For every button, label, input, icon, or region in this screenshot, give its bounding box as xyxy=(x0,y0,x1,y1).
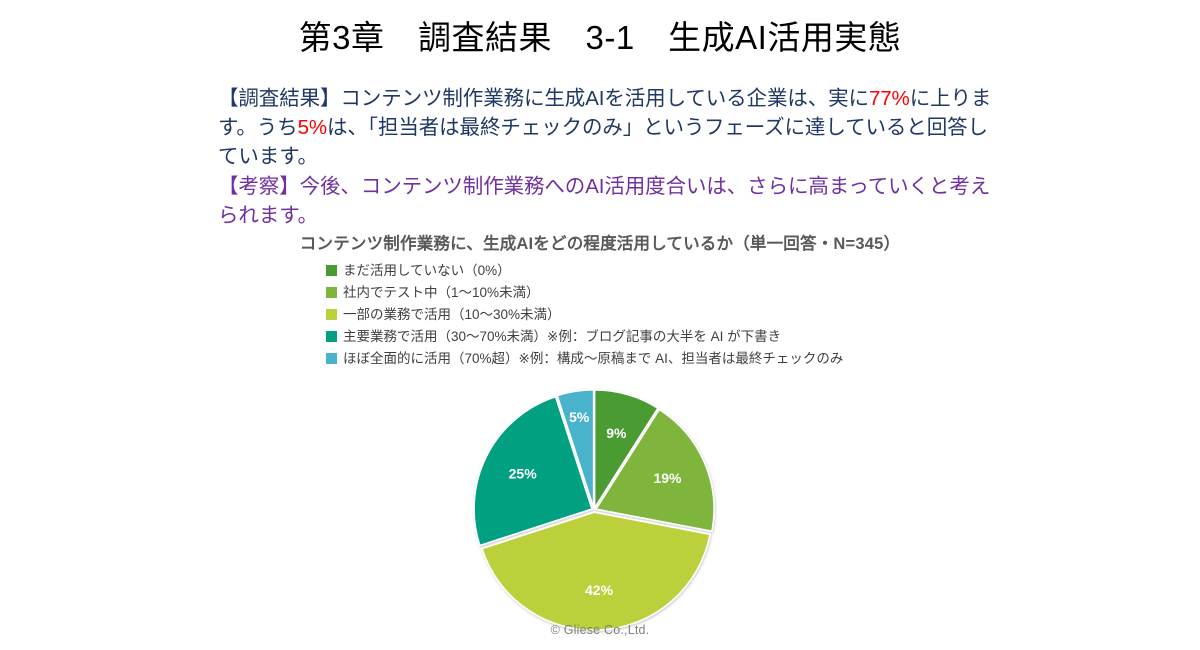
pie-slice-label-2: 42% xyxy=(585,582,614,598)
result-text-prefix: 【調査結果】コンテンツ制作業務に生成AIを活用している企業は、実に xyxy=(218,87,869,110)
legend-swatch-icon-0 xyxy=(326,265,337,276)
legend-swatch-icon-1 xyxy=(326,287,337,298)
chart-title: コンテンツ制作業務に、生成AIをどの程度活用しているか（単一回答・N=345） xyxy=(0,230,1200,254)
legend-item-0: まだ活用していない（0%） xyxy=(326,261,843,280)
legend-label-3: 主要業務で活用（30〜70%未満）※例：ブログ記事の大半を AI が下書き xyxy=(343,327,781,346)
page-title: 第3章 調査結果 3-1 生成AI活用実態 xyxy=(0,18,1200,58)
legend-item-1: 社内でテスト中（1〜10%未満） xyxy=(326,283,843,302)
result-highlight-77: 77% xyxy=(869,87,910,110)
legend-swatch-icon-3 xyxy=(326,331,337,342)
pie-slice-label-0: 9% xyxy=(606,425,627,441)
legend-swatch-icon-4 xyxy=(326,353,337,364)
pie-slice-label-1: 19% xyxy=(653,470,682,486)
result-text-suffix: は、「担当者は最終チェックのみ」というフェーズに達していると回答しています。 xyxy=(218,116,988,168)
legend-label-0: まだ活用していない（0%） xyxy=(343,261,511,280)
insight-text: 【考察】今後、コンテンツ制作業務へのAI活用度合いは、さらに高まっていくと考えら… xyxy=(218,175,990,227)
pie-slice-label-3: 25% xyxy=(509,466,538,482)
legend-item-4: ほぼ全面的に活用（70%超）※例：構成〜原稿まで AI、担当者は最終チェックのみ xyxy=(326,349,843,368)
insight-paragraph: 【考察】今後、コンテンツ制作業務へのAI活用度合いは、さらに高まっていくと考えら… xyxy=(218,172,1000,230)
chart-legend: まだ活用していない（0%） 社内でテスト中（1〜10%未満） 一部の業務で活用（… xyxy=(326,261,843,368)
pie-chart-svg: 9%19%42%25%5% xyxy=(452,385,738,635)
legend-label-2: 一部の業務で活用（10〜30%未満） xyxy=(343,305,561,324)
legend-item-3: 主要業務で活用（30〜70%未満）※例：ブログ記事の大半を AI が下書き xyxy=(326,327,843,346)
legend-label-4: ほぼ全面的に活用（70%超）※例：構成〜原稿まで AI、担当者は最終チェックのみ xyxy=(343,349,843,368)
legend-label-1: 社内でテスト中（1〜10%未満） xyxy=(343,283,540,302)
pie-slice-label-4: 5% xyxy=(569,409,590,425)
survey-result-paragraph: 【調査結果】コンテンツ制作業務に生成AIを活用している企業は、実に77%に上りま… xyxy=(218,84,1000,171)
pie-chart: 9%19%42%25%5% xyxy=(452,385,738,635)
legend-swatch-icon-2 xyxy=(326,309,337,320)
legend-item-2: 一部の業務で活用（10〜30%未満） xyxy=(326,305,843,324)
copyright-text: © Gliese Co.,Ltd. xyxy=(0,623,1200,637)
result-highlight-5: 5% xyxy=(298,116,327,139)
